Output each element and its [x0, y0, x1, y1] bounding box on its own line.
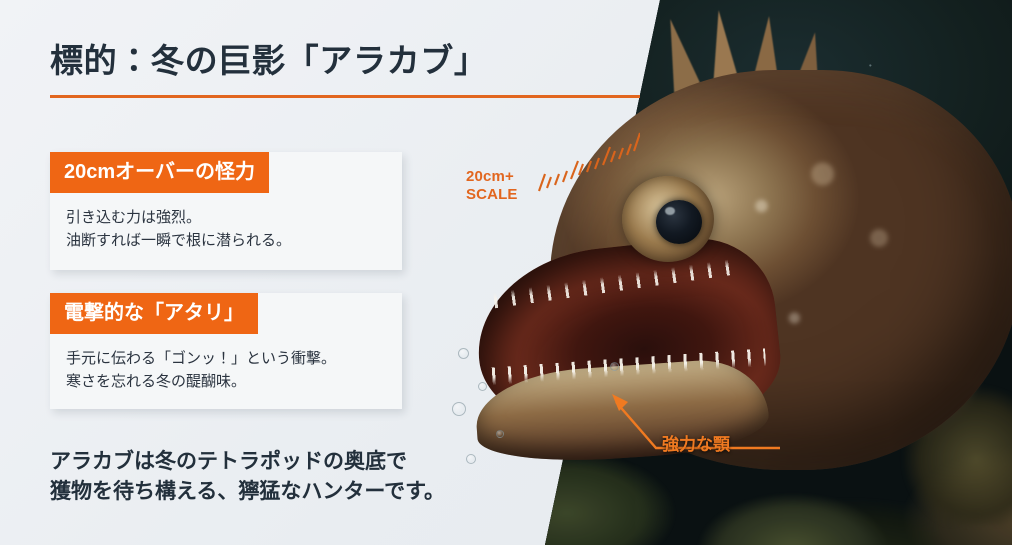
feature-card-2: 電撃的な「アタリ」 手元に伝わる「ゴンッ！」という衝撃。 寒さを忘れる冬の醍醐味…	[50, 293, 402, 409]
card-1-body: 引き込む力は強烈。 油断すれば一瞬で根に潜られる。	[50, 193, 402, 253]
title-underline	[50, 95, 640, 98]
jaw-callout: 強力な顎	[612, 392, 782, 468]
card-2-body: 手元に伝わる「ゴンッ！」という衝撃。 寒さを忘れる冬の醍醐味。	[50, 334, 402, 394]
card-1-badge: 20cmオーバーの怪力	[50, 152, 269, 193]
page-title: 標的：冬の巨影「アラカブ」	[50, 34, 488, 82]
reef-column	[792, 225, 1012, 525]
infographic-slide: 標的：冬の巨影「アラカブ」 20cmオーバーの怪力 引き込む力は強烈。 油断すれ…	[0, 0, 1012, 545]
scale-label: 20cm+ SCALE	[466, 168, 518, 203]
feature-card-1: 20cmオーバーの怪力 引き込む力は強烈。 油断すれば一瞬で根に潜られる。	[50, 152, 402, 270]
card-2-badge: 電撃的な「アタリ」	[50, 293, 258, 334]
ruler-scale-icon	[536, 120, 640, 194]
footer-note: アラカブは冬のテトラポッドの奥底で 獲物を待ち構える、獰猛なハンターです。	[50, 447, 445, 508]
jaw-callout-label: 強力な顎	[662, 430, 730, 455]
